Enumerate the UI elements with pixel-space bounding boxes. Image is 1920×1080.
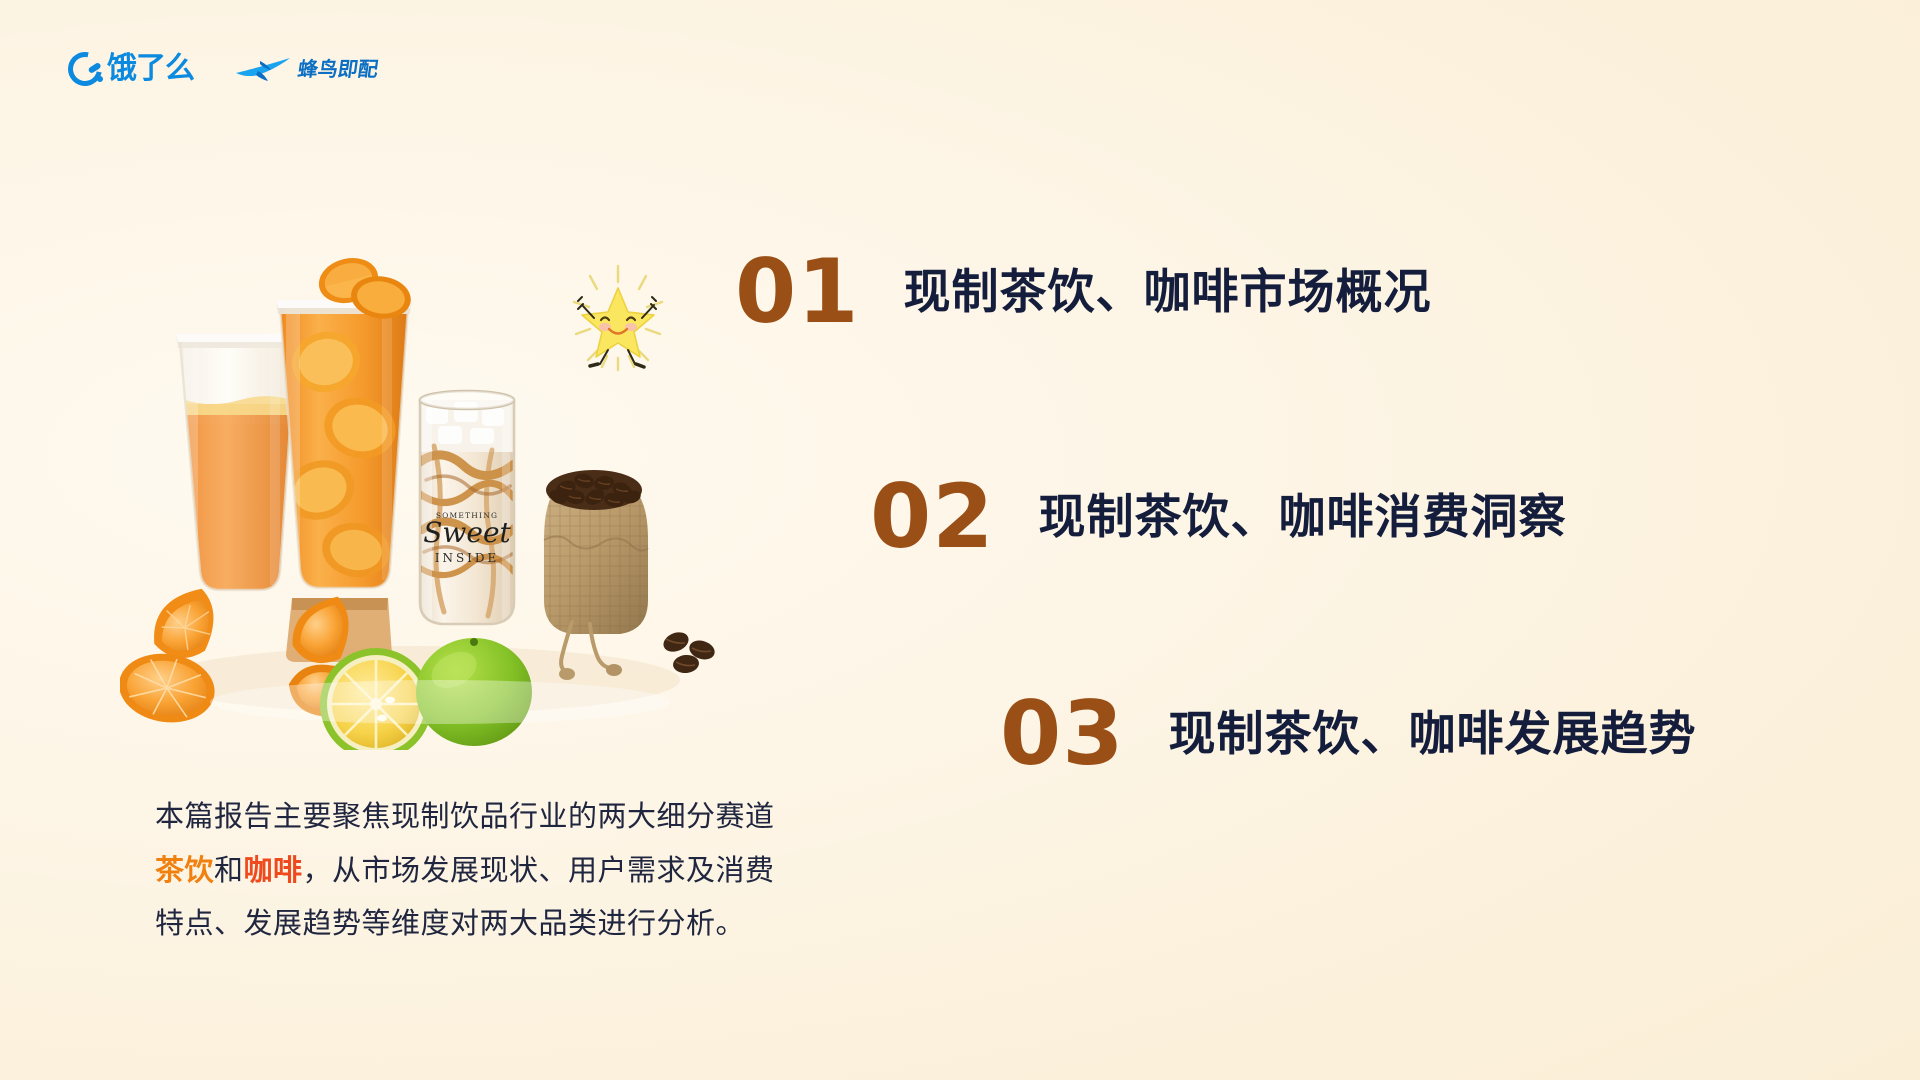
toc-number-02: 02 — [870, 473, 994, 561]
product-photo: SOMETHING Sweet INSIDE — [120, 250, 800, 750]
description-line-2-mid: 和 — [214, 853, 244, 887]
toc-item-03[interactable]: 03 现制茶饮、咖啡发展趋势 — [1000, 690, 1696, 778]
eleme-e-mark-icon — [68, 52, 102, 86]
table-of-contents: 01 现制茶饮、咖啡市场概况 02 现制茶饮、咖啡消费洞察 03 现制茶饮、咖啡… — [700, 230, 1880, 850]
slide-root: 饿了么 蜂鸟即配 — [0, 0, 1920, 1080]
report-description: 本篇报告主要聚焦现制饮品行业的两大细分赛道 茶饮和咖啡，从市场发展现状、用户需求… — [155, 790, 875, 951]
hummingbird-swoosh-icon — [234, 56, 292, 82]
glass-label-sub: INSIDE — [435, 551, 500, 565]
toc-label-01: 现制茶饮、咖啡市场概况 — [903, 269, 1431, 316]
eleme-logo[interactable]: 饿了么 — [68, 52, 194, 86]
description-line-3: 特点、发展趋势等维度对两大品类进行分析。 — [155, 897, 875, 951]
eleme-logo-text: 饿了么 — [107, 54, 194, 84]
toc-number-03: 03 — [1000, 690, 1124, 778]
toc-item-01[interactable]: 01 现制茶饮、咖啡市场概况 — [735, 248, 1431, 336]
highlight-coffee: 咖啡 — [244, 853, 303, 887]
highlight-tea: 茶饮 — [155, 853, 214, 887]
toc-label-02: 现制茶饮、咖啡消费洞察 — [1038, 494, 1566, 541]
cartoon-star-icon — [574, 266, 662, 370]
toc-number-01: 01 — [735, 248, 859, 336]
description-line-2-rest: ，从市场发展现状、用户需求及消费 — [303, 853, 775, 887]
brown-sugar-milk-tea-glass: SOMETHING Sweet INSIDE — [416, 391, 518, 624]
fengniao-logo[interactable]: 蜂鸟即配 — [234, 56, 378, 82]
glass-label-main: Sweet — [423, 516, 511, 549]
toc-item-02[interactable]: 02 现制茶饮、咖啡消费洞察 — [870, 473, 1566, 561]
fengniao-logo-text: 蜂鸟即配 — [297, 59, 380, 79]
logo-bar: 饿了么 蜂鸟即配 — [68, 52, 378, 86]
toc-label-03: 现制茶饮、咖啡发展趋势 — [1168, 711, 1696, 758]
orange-tea-cup — [276, 252, 414, 588]
coffee-bean-sack — [540, 470, 652, 680]
coffee-beans-pile — [546, 470, 642, 510]
description-line-2: 茶饮和咖啡，从市场发展现状、用户需求及消费 — [155, 844, 875, 898]
orange-wedge-left — [120, 587, 225, 729]
description-line-1: 本篇报告主要聚焦现制饮品行业的两大细分赛道 — [155, 790, 875, 844]
